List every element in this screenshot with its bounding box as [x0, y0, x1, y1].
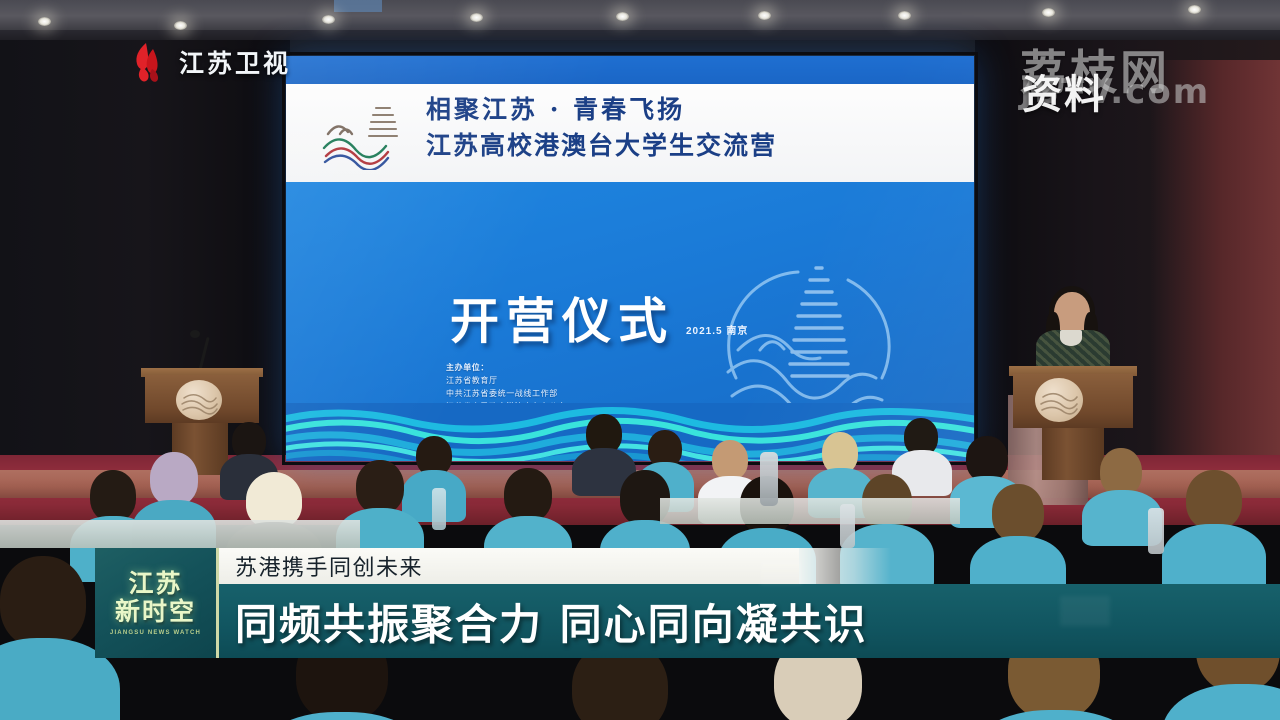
screen-title: 开营仪式: [450, 282, 674, 353]
broadcast-frame: 相聚江苏 · 青春飞扬 江苏高校港澳台大学生交流营: [0, 0, 1280, 720]
conference-table: [0, 520, 360, 548]
program-logo-accent-edge: [216, 548, 219, 658]
podium-left-seal-lines-icon: [178, 386, 220, 416]
downlight-icon: [322, 15, 335, 24]
host-item: 中共江苏省委统一战线工作部: [446, 388, 566, 401]
lower-third-kicker-bar: 苏港携手同创未来: [219, 548, 799, 584]
screen-banner-line2: 江苏高校港澳台大学生交流营: [426, 128, 777, 164]
microphone-head-icon: [190, 330, 200, 338]
podium-right-seal-lines-icon: [1037, 385, 1081, 417]
downlight-icon: [1188, 5, 1201, 14]
screen-subtitle: 2021.5 南京: [686, 322, 748, 337]
screen-banner-text: 相聚江苏 · 青春飞扬 江苏高校港澳台大学生交流营: [426, 92, 777, 165]
compression-artifact: [1060, 596, 1110, 626]
right-warm-drape: [1150, 60, 1280, 480]
water-bottle-icon: [760, 452, 778, 506]
screen-body: 开营仪式 2021.5 南京 主办单位： 江苏省教育厅 中共江苏省委统一战线工作…: [286, 182, 974, 461]
program-logo-inner: 江苏 新时空 JIANGSU NEWS WATCH: [95, 548, 216, 658]
lower-third-headline-text: 同频共振聚合力 同心同向凝共识: [219, 591, 868, 652]
downlight-icon: [470, 13, 483, 22]
downlight-icon: [616, 12, 629, 21]
host-item: 江苏省教育厅: [446, 375, 566, 388]
jiangsu-tv-flame-logo-icon: [126, 40, 170, 84]
compression-artifact: [760, 560, 802, 584]
downlight-icon: [174, 21, 187, 30]
led-presentation-screen: 相聚江苏 · 青春飞扬 江苏高校港澳台大学生交流营: [286, 56, 974, 461]
program-logo-romanized: JIANGSU NEWS WATCH: [110, 630, 201, 636]
podium-right-column: [1042, 428, 1104, 480]
water-bottle-icon: [1148, 508, 1164, 554]
ceiling-vent-icon: [334, 0, 382, 12]
conference-table: [660, 498, 960, 524]
speaker-collar: [1060, 330, 1082, 346]
water-bottle-icon: [840, 504, 855, 548]
bridge-wave-emblem-icon: [316, 96, 408, 170]
program-logo-block: 江苏 新时空 JIANGSU NEWS WATCH: [95, 548, 219, 658]
downlight-icon: [38, 17, 51, 26]
downlight-icon: [898, 11, 911, 20]
channel-bug: 江苏卫视: [126, 40, 291, 84]
water-bottle-icon: [432, 488, 446, 530]
lower-third-kicker-fade: [799, 548, 891, 584]
screen-banner-line1: 相聚江苏 · 青春飞扬: [426, 92, 777, 128]
lower-third-headline-bar: 同频共振聚合力 同心同向凝共识: [219, 584, 1280, 658]
archive-label: 资料: [1022, 62, 1106, 120]
downlight-icon: [758, 11, 771, 20]
screen-wave-graphic: [286, 403, 974, 461]
screen-top-strip: [286, 56, 974, 84]
program-logo-line1: 江苏: [128, 570, 182, 598]
downlight-icon: [1042, 8, 1055, 17]
host-heading: 主办单位：: [446, 362, 566, 375]
lower-third-kicker-text: 苏港携手同创未来: [219, 550, 423, 582]
channel-name: 江苏卫视: [179, 44, 291, 80]
site-watermark: 荔枝网 JSTV.com 资料: [1012, 28, 1272, 110]
screen-banner: 相聚江苏 · 青春飞扬 江苏高校港澳台大学生交流营: [286, 84, 974, 182]
program-logo-line2: 新时空: [115, 598, 196, 626]
